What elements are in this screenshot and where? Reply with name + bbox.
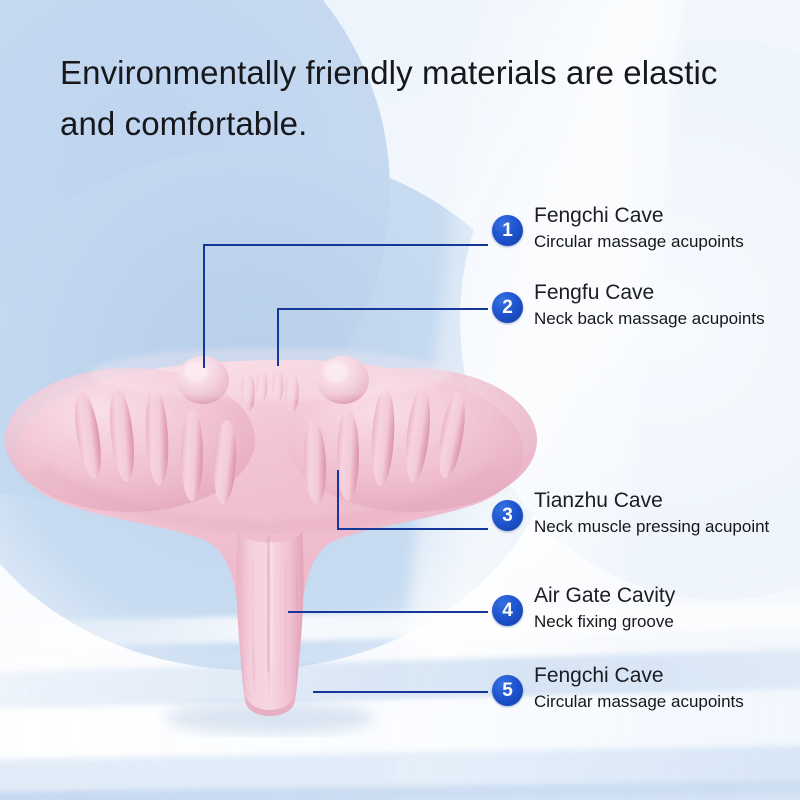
callout-subtitle-4: Neck fixing groove — [534, 610, 675, 633]
headline-text: Environmentally friendly materials are e… — [60, 47, 780, 149]
callout-badge-3: 3 — [492, 500, 523, 531]
callout-title-1: Fengchi Cave — [534, 203, 744, 229]
callout-1[interactable]: 1 Fengchi Cave Circular massage acupoint… — [492, 203, 744, 253]
callout-2[interactable]: 2 Fengfu Cave Neck back massage acupoint… — [492, 280, 765, 330]
callout-subtitle-5: Circular massage acupoints — [534, 690, 744, 713]
callout-title-3: Tianzhu Cave — [534, 488, 769, 514]
product-illustration — [0, 300, 560, 740]
callout-text-2: Fengfu Cave Neck back massage acupoints — [534, 280, 765, 330]
callout-badge-4: 4 — [492, 595, 523, 626]
callout-title-4: Air Gate Cavity — [534, 583, 675, 609]
callout-badge-1: 1 — [492, 215, 523, 246]
callout-5[interactable]: 5 Fengchi Cave Circular massage acupoint… — [492, 663, 744, 713]
callout-text-3: Tianzhu Cave Neck muscle pressing acupoi… — [534, 488, 769, 538]
callout-badge-5: 5 — [492, 675, 523, 706]
infographic-canvas: Environmentally friendly materials are e… — [0, 0, 800, 800]
callout-text-5: Fengchi Cave Circular massage acupoints — [534, 663, 744, 713]
callout-3[interactable]: 3 Tianzhu Cave Neck muscle pressing acup… — [492, 488, 769, 538]
callout-badge-2: 2 — [492, 292, 523, 323]
callout-text-4: Air Gate Cavity Neck fixing groove — [534, 583, 675, 633]
callout-title-2: Fengfu Cave — [534, 280, 765, 306]
callout-text-1: Fengchi Cave Circular massage acupoints — [534, 203, 744, 253]
callout-subtitle-3: Neck muscle pressing acupoint — [534, 515, 769, 538]
callout-title-5: Fengchi Cave — [534, 663, 744, 689]
callout-4[interactable]: 4 Air Gate Cavity Neck fixing groove — [492, 583, 675, 633]
callout-subtitle-1: Circular massage acupoints — [534, 230, 744, 253]
callout-subtitle-2: Neck back massage acupoints — [534, 307, 765, 330]
